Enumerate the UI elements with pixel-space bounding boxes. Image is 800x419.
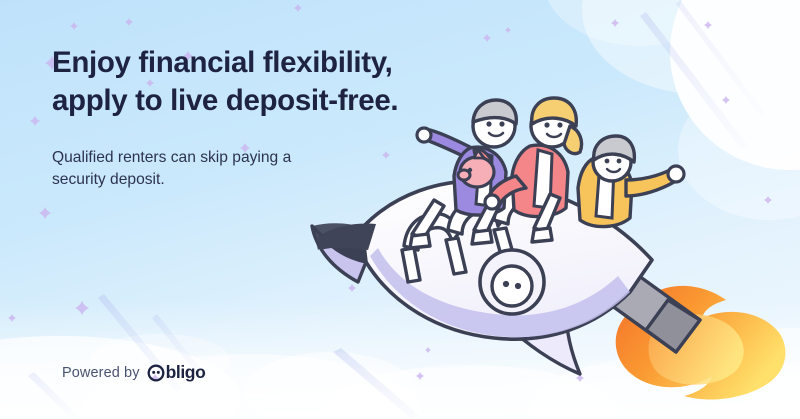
obligo-wordmark: bligo bbox=[166, 362, 206, 383]
rocket-window-face-icon bbox=[480, 250, 544, 314]
powered-by-lockup: Powered by bligo bbox=[62, 362, 205, 383]
obligo-circle-dot-icon bbox=[147, 364, 165, 382]
headline-block: Enjoy financial flexibility, apply to li… bbox=[52, 44, 452, 192]
powered-by-label: Powered by bbox=[62, 365, 140, 381]
page-title: Enjoy financial flexibility, apply to li… bbox=[52, 44, 452, 121]
promo-banner: Enjoy financial flexibility, apply to li… bbox=[0, 0, 800, 419]
page-subtitle: Qualified renters can skip paying a secu… bbox=[52, 147, 452, 192]
obligo-logo: bligo bbox=[147, 362, 206, 383]
